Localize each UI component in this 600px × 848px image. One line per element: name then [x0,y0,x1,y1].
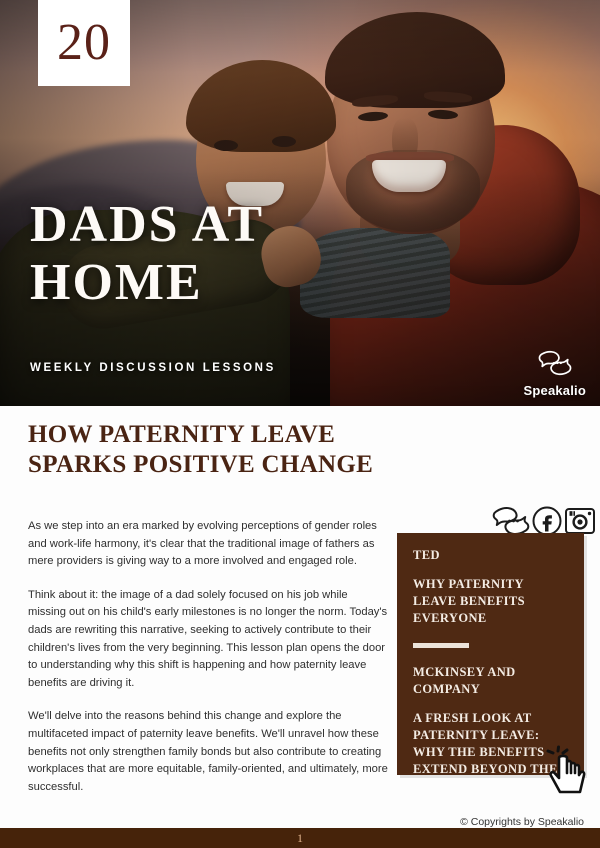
newsletter-page: 20 DADS AT HOME WEEKLY DISCUSSION LESSON… [0,0,600,848]
source-title[interactable]: A FRESH LOOK AT PATERNITY LEAVE: WHY THE… [413,710,568,775]
brand-logo: Speakalio [524,350,587,398]
source-divider [413,643,469,648]
article-paragraph: We'll delve into the reasons behind this… [28,708,388,796]
article-paragraph: Think about it: the image of a dad solel… [28,587,388,693]
hero-title: DADS AT HOME [30,196,450,312]
article-headline: HOW PATERNITY LEAVE SPARKS POSITIVE CHAN… [28,420,418,480]
source-name: MCKINSEY AND COMPANY [413,664,568,698]
issue-number-text: 20 [57,17,111,69]
page-number: 1 [0,828,600,848]
hero-subtitle: WEEKLY DISCUSSION LESSONS [30,362,276,374]
copyright-text: © Copyrights by Speakalio [460,816,584,828]
sources-panel: TED WHY PATERNITY LEAVE BENEFITS EVERYON… [397,533,584,775]
hero-banner: 20 DADS AT HOME WEEKLY DISCUSSION LESSON… [0,0,600,406]
article-paragraph: As we step into an era marked by evolvin… [28,518,388,571]
brand-name-text: Speakalio [524,383,587,398]
speech-bubbles-icon [538,350,572,381]
article-body: As we step into an era marked by evolvin… [28,518,388,812]
hand-pointer-cursor-icon [546,742,594,796]
issue-number-badge: 20 [38,0,130,86]
source-title[interactable]: WHY PATERNITY LEAVE BENEFITS EVERYONE [413,576,568,627]
source-name: TED [413,547,568,564]
